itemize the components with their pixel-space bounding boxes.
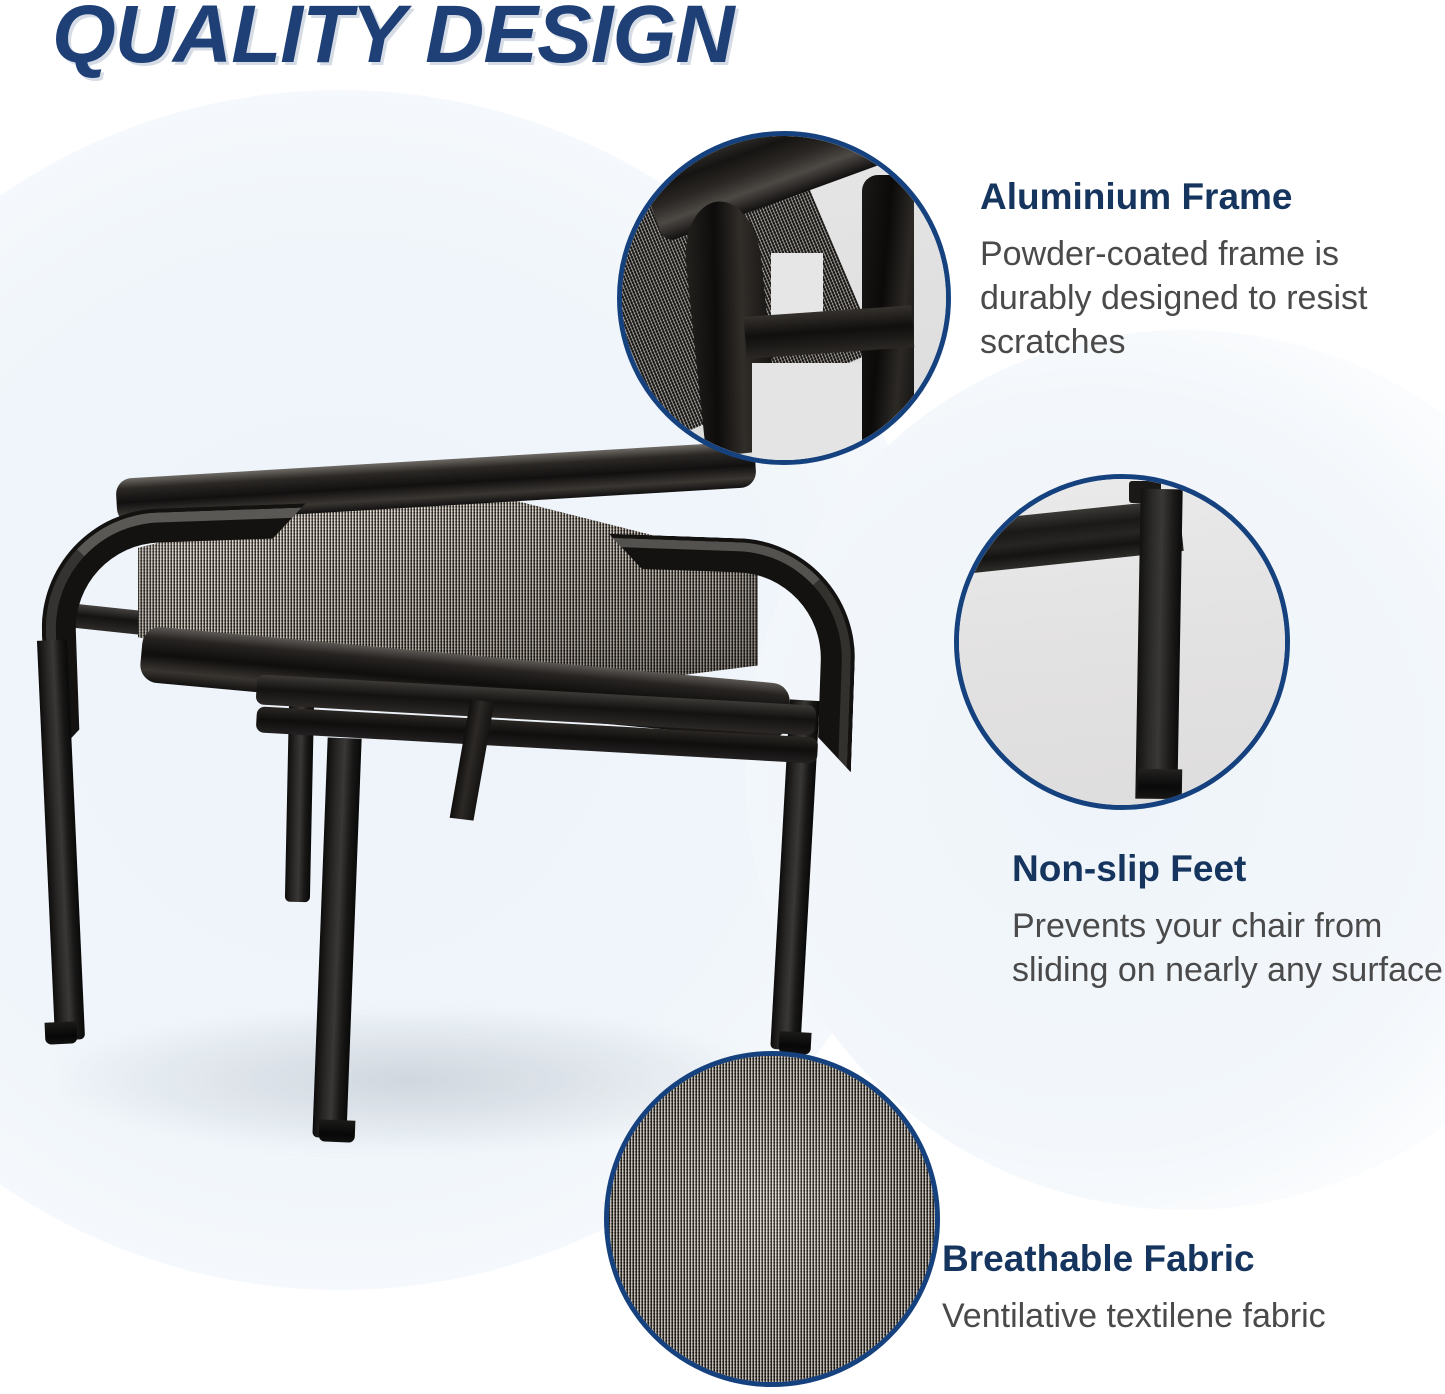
foot-closeup-foot-cap [1138,769,1182,799]
callout-body-non-slip-feet: Prevents your chair from sliding on near… [1012,904,1445,992]
product-image-ottoman [20,450,850,1150]
frame-closeup-gap-lower [752,363,862,460]
ottoman-front-left-foot [45,1021,78,1044]
callout-non-slip-feet: Non-slip Feet Prevents your chair from s… [1012,848,1445,992]
foot-closeup-leg [1136,488,1184,798]
frame-closeup-gap-upper [771,253,823,318]
callout-breathable-fabric: Breathable Fabric Ventilative textilene … [942,1238,1442,1338]
ottoman-front-middle-foot [319,1119,356,1142]
callout-body-aluminium-frame: Powder-coated frame is durably designed … [980,232,1442,365]
callout-title-breathable-fabric: Breathable Fabric [942,1238,1442,1281]
fabric-weave-closeup-image [604,1051,940,1387]
frame-closeup-image [617,131,951,465]
foot-closeup-image [954,474,1290,810]
infographic-page: QUALITY DESIGN [0,0,1445,1394]
callout-body-breathable-fabric: Ventilative textilene fabric [942,1294,1442,1338]
callout-aluminium-frame: Aluminium Frame Powder-coated frame is d… [980,176,1442,364]
callout-title-aluminium-frame: Aluminium Frame [980,176,1442,219]
page-title: QUALITY DESIGN [52,0,734,76]
fabric-closeup-shading [609,1056,935,1382]
callout-title-non-slip-feet: Non-slip Feet [1012,848,1445,891]
